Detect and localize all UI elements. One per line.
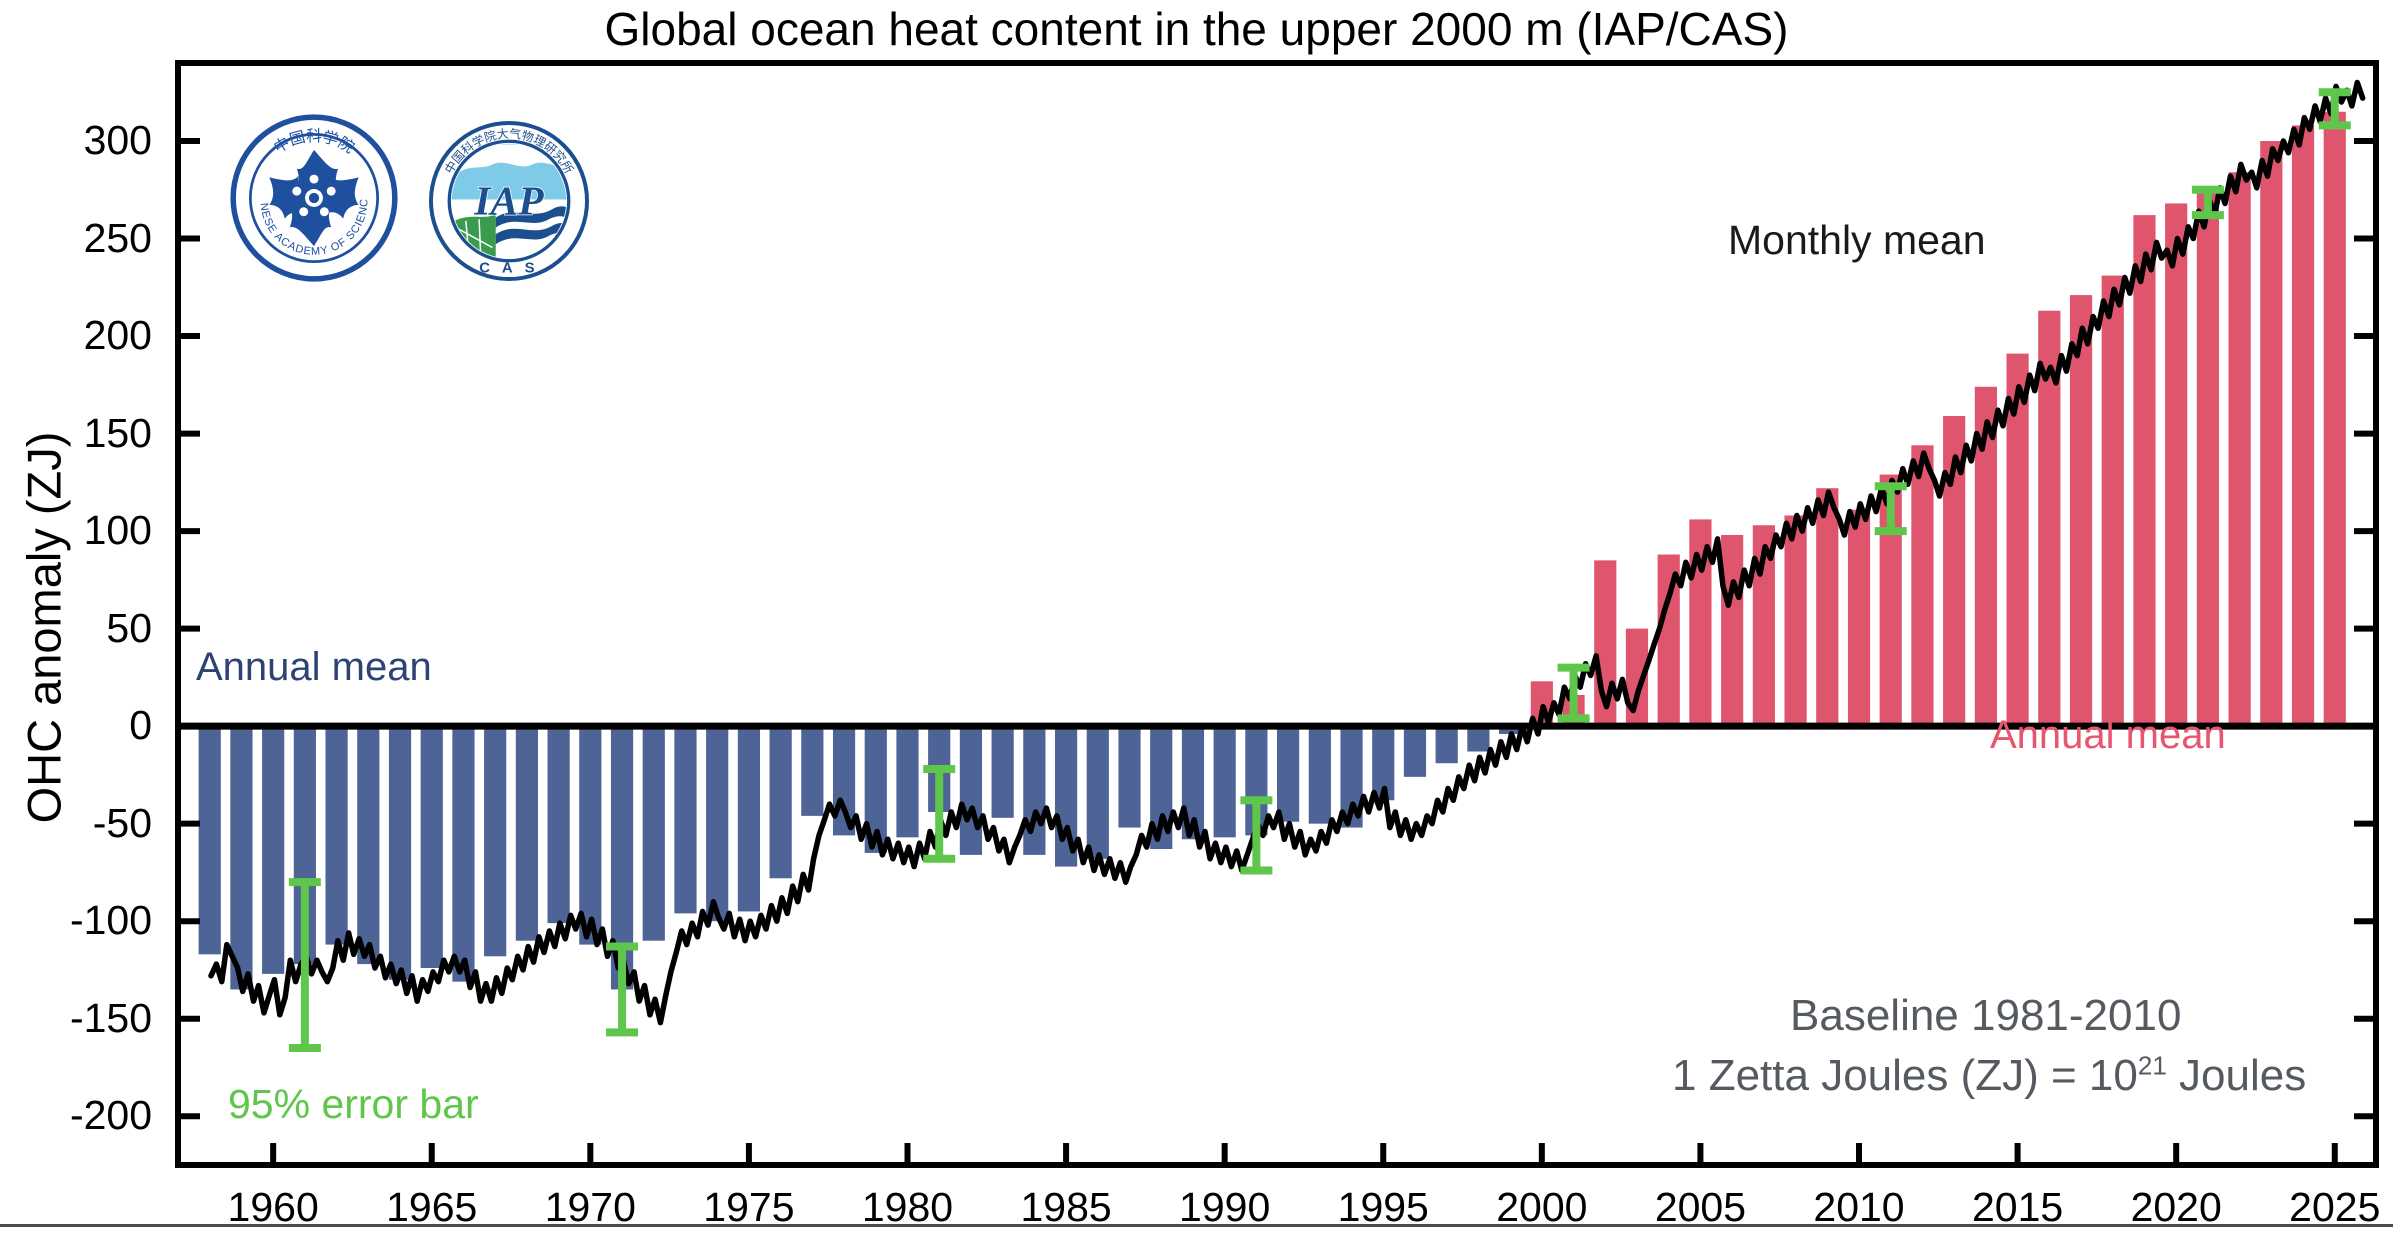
annual-mean-bar <box>484 726 506 956</box>
x-tick-label: 2025 <box>2245 1187 2393 1228</box>
annual-mean-bar <box>230 726 252 989</box>
annual-mean-bar <box>1721 535 1743 726</box>
y-tick-label: 250 <box>0 218 152 259</box>
chart-page: Global ocean heat content in the upper 2… <box>0 0 2393 1248</box>
y-tick-label: 150 <box>0 413 152 454</box>
chinese-academy-of-sciences-logo: 中国科学院 CHINESE ACADEMY OF SCIENCES <box>228 112 400 284</box>
annual-mean-bar <box>1848 510 1870 727</box>
y-tick-label: -200 <box>0 1095 152 1136</box>
x-tick-label: 1975 <box>659 1187 839 1228</box>
annual-mean-bar <box>2260 141 2282 726</box>
annual-mean-bar <box>516 726 538 941</box>
annual-mean-bar <box>1816 488 1838 726</box>
zj-prefix: 1 Zetta Joules (ZJ) = 10 <box>1672 1051 2138 1100</box>
svg-text:IAP: IAP <box>473 177 544 223</box>
annual-mean-bar <box>992 726 1014 818</box>
y-tick-label: 0 <box>0 705 152 746</box>
x-tick-label: 2015 <box>1928 1187 2108 1228</box>
annual-mean-bar <box>199 726 221 954</box>
x-tick-label: 2000 <box>1452 1187 1632 1228</box>
annual-mean-bar <box>1436 726 1458 763</box>
annual-mean-bar <box>2102 276 2124 727</box>
iap-cas-logo: IAP 中国科学院大气物理研究所 C A S <box>426 118 592 284</box>
annual-mean-bar <box>738 726 760 911</box>
annual-mean-bar <box>1404 726 1426 777</box>
annual-mean-bar <box>389 726 411 980</box>
annual-mean-bar <box>1118 726 1140 827</box>
footer-divider <box>0 1224 2393 1227</box>
annual-mean-bar <box>452 726 474 982</box>
x-tick-label: 1995 <box>1293 1187 1473 1228</box>
annual-mean-bar <box>2197 186 2219 726</box>
annual-mean-bar <box>325 726 347 944</box>
y-tick-label: 100 <box>0 510 152 551</box>
plot-area: OHC anomaly (ZJ) 300250200150100500-50-1… <box>0 0 2393 1248</box>
annual-mean-bar <box>643 726 665 941</box>
annual-mean-bar <box>548 726 570 923</box>
annual-mean-bar <box>1467 726 1489 751</box>
y-tick-label: -50 <box>0 803 152 844</box>
annual-mean-bar <box>770 726 792 878</box>
annual-mean-red-label: Annual mean <box>1990 713 2226 757</box>
annual-mean-bar <box>1214 726 1236 837</box>
annual-mean-bar <box>1277 726 1299 822</box>
zetta-joule-note: 1 Zetta Joules (ZJ) = 1021 Joules <box>1672 1052 2306 1100</box>
y-tick-label: -100 <box>0 900 152 941</box>
annual-mean-bar <box>801 726 823 816</box>
x-tick-label: 1965 <box>342 1187 522 1228</box>
annual-mean-bar <box>262 726 284 974</box>
x-tick-label: 2010 <box>1769 1187 1949 1228</box>
annual-mean-bar <box>2229 172 2251 726</box>
annual-mean-bar <box>706 726 728 921</box>
zj-exponent: 21 <box>2138 1050 2167 1080</box>
annual-mean-bar <box>1911 445 1933 726</box>
x-tick-label: 1990 <box>1135 1187 1315 1228</box>
x-tick-label: 1980 <box>817 1187 997 1228</box>
annual-mean-bar <box>960 726 982 855</box>
y-tick-label: -150 <box>0 998 152 1039</box>
x-tick-label: 1960 <box>183 1187 363 1228</box>
x-tick-label: 1970 <box>500 1187 680 1228</box>
y-tick-label: 50 <box>0 608 152 649</box>
annual-mean-blue-label: Annual mean <box>196 645 432 689</box>
annual-mean-bar <box>896 726 918 837</box>
annual-mean-bar <box>2292 125 2314 726</box>
annual-mean-bar <box>357 726 379 964</box>
baseline-note: Baseline 1981-2010 <box>1790 992 2181 1040</box>
svg-text:C A S: C A S <box>479 259 538 276</box>
annual-mean-bar <box>2070 295 2092 726</box>
x-tick-label: 2020 <box>2086 1187 2266 1228</box>
error-bar-label: 95% error bar <box>228 1082 479 1127</box>
x-tick-label: 1985 <box>976 1187 1156 1228</box>
annual-mean-bar <box>674 726 696 913</box>
annual-mean-bar <box>1784 516 1806 727</box>
annual-mean-bar <box>1087 726 1109 859</box>
zj-suffix: Joules <box>2167 1051 2306 1100</box>
y-tick-label: 300 <box>0 120 152 161</box>
annual-mean-bar <box>2165 203 2187 726</box>
annual-mean-bar <box>1023 726 1045 855</box>
annual-mean-bar <box>2324 112 2346 726</box>
x-tick-label: 2005 <box>1610 1187 1790 1228</box>
annual-mean-bar <box>1309 726 1331 824</box>
annual-mean-bar <box>421 726 443 968</box>
y-tick-label: 200 <box>0 315 152 356</box>
annual-mean-bar <box>2133 215 2155 726</box>
monthly-mean-label: Monthly mean <box>1728 218 1986 263</box>
